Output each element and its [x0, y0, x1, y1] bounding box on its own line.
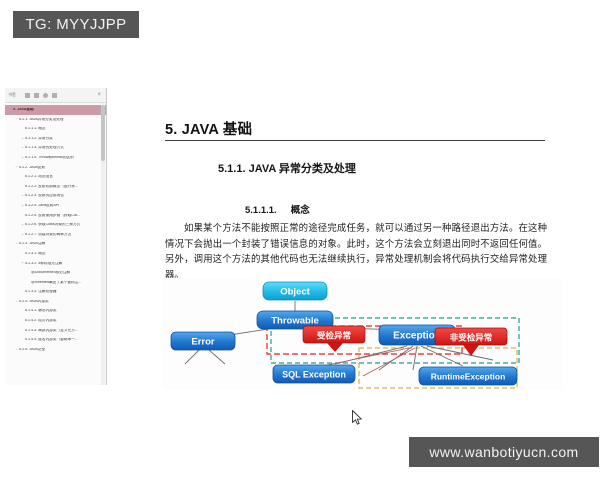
- outline-item[interactable]: 5.1.3.3. 注解处理器: [5, 287, 106, 297]
- expand-icon[interactable]: [25, 93, 30, 98]
- bottom-watermark-badge: www.wanbotiyucn.com: [409, 437, 599, 467]
- node-object: Object: [263, 282, 327, 300]
- heading-3-text: 概念: [291, 205, 310, 216]
- close-icon[interactable]: ×: [97, 92, 103, 98]
- outline-item-label: 5.1.2.3. 反射的应用场合: [25, 194, 64, 198]
- outline-item-label: 5.1.5. JAVA泛型: [19, 348, 45, 352]
- svg-text:Object: Object: [280, 287, 310, 298]
- outline-item[interactable]: 5.1.4.1. 静态内部类: [5, 306, 106, 316]
- document-paragraph: 如果某个方法不能按照正常的途径完成任务，就可以通过另一种路径退出方法。在这种情况…: [165, 221, 547, 283]
- outline-item[interactable]: −5.1.5. JAVA泛型: [5, 345, 106, 355]
- outline-item-label: 5.1.4.1. 静态内部类: [25, 309, 57, 313]
- outline-scrollbar-thumb[interactable]: [101, 105, 105, 161]
- svg-text:SQL Exception: SQL Exception: [282, 370, 346, 380]
- outline-item-label: @Inherited阐述了某个被标注...: [31, 281, 81, 285]
- outline-item[interactable]: +5.1.1.2. 异常分类: [5, 134, 106, 144]
- outline-item-list[interactable]: −5. JAVA基础−5.1.1. JAVA异常分类及处理5.1.1.1. 概念…: [5, 103, 106, 385]
- svg-text:Throwable: Throwable: [271, 316, 319, 327]
- print-icon[interactable]: [52, 93, 57, 98]
- outline-item-label: 5.1.1.3. 异常的处理方式: [25, 146, 64, 150]
- outline-item[interactable]: −5.1.3. JAVA注解: [5, 239, 106, 249]
- outline-item[interactable]: 5.1.2.1. 动态语言: [5, 172, 106, 182]
- options-icon[interactable]: [43, 93, 48, 98]
- outline-toolbar: 书签 ×: [5, 88, 106, 103]
- outline-item-label: 5. JAVA基础: [13, 108, 34, 112]
- node-error: Error: [171, 332, 235, 350]
- mouse-cursor: [352, 410, 363, 425]
- outline-item[interactable]: 5.1.4.4. 匿名内部类（要继承一...: [5, 335, 106, 345]
- svg-text:Error: Error: [191, 337, 215, 348]
- document-heading-2: 5.1.1. JAVA 异常分类及处理: [218, 160, 356, 176]
- svg-text:RuntimeException: RuntimeException: [431, 372, 506, 382]
- outline-item[interactable]: @Documented标记注解: [5, 268, 106, 278]
- outline-item[interactable]: +5.1.2.3. 反射的应用场合: [5, 191, 106, 201]
- outline-item-label: 5.1.2.4. Java反射API: [25, 204, 59, 208]
- outline-item[interactable]: 5.1.2.2. 反射机制概念（运行状...: [5, 182, 106, 192]
- outline-item-label: 5.1.1.4. Throw和throws的区别: [25, 156, 74, 160]
- outline-item-label: 5.1.2. JAVA反射: [19, 166, 45, 170]
- svg-text:Exception: Exception: [393, 331, 441, 342]
- node-sql-exception: SQL Exception: [273, 365, 355, 383]
- outline-item-label: 5.1.1.1. 概念: [25, 127, 46, 131]
- outline-item[interactable]: −5.1.4. JAVA内部类: [5, 297, 106, 307]
- outline-item[interactable]: −5.1.2. JAVA反射: [5, 163, 106, 173]
- top-watermark-badge: TG: MYYJJPP: [13, 11, 139, 38]
- svg-text:非受检异常: 非受检异常: [450, 333, 493, 344]
- outline-panel: 书签 × −5. JAVA基础−5.1.1. JAVA异常分类及处理5.1.1.…: [5, 88, 107, 385]
- outline-item-label: 5.1.2.7. 创建对象的两种方法: [25, 233, 71, 237]
- outline-item[interactable]: +5.1.2.6. 获取Class对象的三种方式: [5, 220, 106, 230]
- outline-item[interactable]: −5. JAVA基础: [5, 105, 106, 115]
- outline-item-label: 5.1.1. JAVA异常分类及处理: [19, 118, 63, 122]
- outline-item-label: 5.1.1.2. 异常分类: [25, 137, 53, 141]
- outline-item[interactable]: +5.1.1.4. Throw和throws的区别: [5, 153, 106, 163]
- outline-item-label: 5.1.2.1. 动态语言: [25, 175, 53, 179]
- outline-item-label: 5.1.4. JAVA内部类: [19, 300, 49, 304]
- outline-item-label: 5.1.3. JAVA注解: [19, 242, 45, 246]
- outline-item-label: @Documented标记注解: [31, 271, 70, 275]
- outline-item[interactable]: +5.1.1.3. 异常的处理方式: [5, 143, 106, 153]
- outline-toolbar-label: 书签: [8, 92, 16, 98]
- outline-item[interactable]: 5.1.3.1. 概念: [5, 249, 106, 259]
- outline-toolbar-icons: [25, 93, 57, 98]
- outline-item[interactable]: @Inherited阐述了某个被标注...: [5, 278, 106, 288]
- document-page: 5. JAVA 基础 5.1.1. JAVA 异常分类及处理 5.1.1.1.概…: [115, 80, 600, 390]
- outline-item[interactable]: −5.1.1. JAVA异常分类及处理: [5, 115, 106, 125]
- pdf-reader-window: 书签 × −5. JAVA基础−5.1.1. JAVA异常分类及处理5.1.1.…: [0, 80, 600, 390]
- collapse-icon[interactable]: [34, 93, 39, 98]
- svg-text:受检异常: 受检异常: [317, 331, 351, 342]
- outline-item-label: 5.1.3.1. 概念: [25, 252, 46, 256]
- outline-item[interactable]: +5.1.3.2. 4种标准元注解: [5, 259, 106, 269]
- document-heading-3: 5.1.1.1.概念: [245, 202, 310, 216]
- outline-item[interactable]: +5.1.2.4. Java反射API: [5, 201, 106, 211]
- outline-item[interactable]: +5.1.2.7. 创建对象的两种方法: [5, 230, 106, 240]
- outline-item-label: 5.1.4.4. 匿名内部类（要继承一...: [25, 338, 78, 342]
- exception-hierarchy-diagram: Object Throwable Error Exception SQL Exc: [163, 278, 563, 390]
- node-runtime-exception: RuntimeException: [419, 367, 517, 385]
- heading-3-number: 5.1.1.1.: [245, 205, 277, 216]
- outline-item-label: 5.1.2.5. 反射使用步骤（获取Cla...: [25, 213, 80, 217]
- outline-item[interactable]: 5.1.1.1. 概念: [5, 124, 106, 134]
- outline-item[interactable]: 5.1.4.2. 成员内部类: [5, 316, 106, 326]
- outline-item-label: 5.1.2.6. 获取Class对象的三种方式: [25, 223, 80, 227]
- outline-item-label: 5.1.3.2. 4种标准元注解: [25, 261, 62, 265]
- outline-item-label: 5.1.2.2. 反射机制概念（运行状...: [25, 185, 78, 189]
- outline-item[interactable]: 5.1.4.3. 局部内部类（定义在方...: [5, 326, 106, 336]
- outline-item-label: 5.1.4.3. 局部内部类（定义在方...: [25, 329, 78, 333]
- outline-item[interactable]: 5.1.2.5. 反射使用步骤（获取Cla...: [5, 211, 106, 221]
- outline-item-label: 5.1.3.3. 注解处理器: [25, 290, 57, 294]
- outline-scrollbar[interactable]: [101, 103, 105, 385]
- outline-item-label: 5.1.4.2. 成员内部类: [25, 319, 57, 323]
- document-heading-1: 5. JAVA 基础: [165, 118, 252, 139]
- heading-1-rule: [165, 140, 545, 141]
